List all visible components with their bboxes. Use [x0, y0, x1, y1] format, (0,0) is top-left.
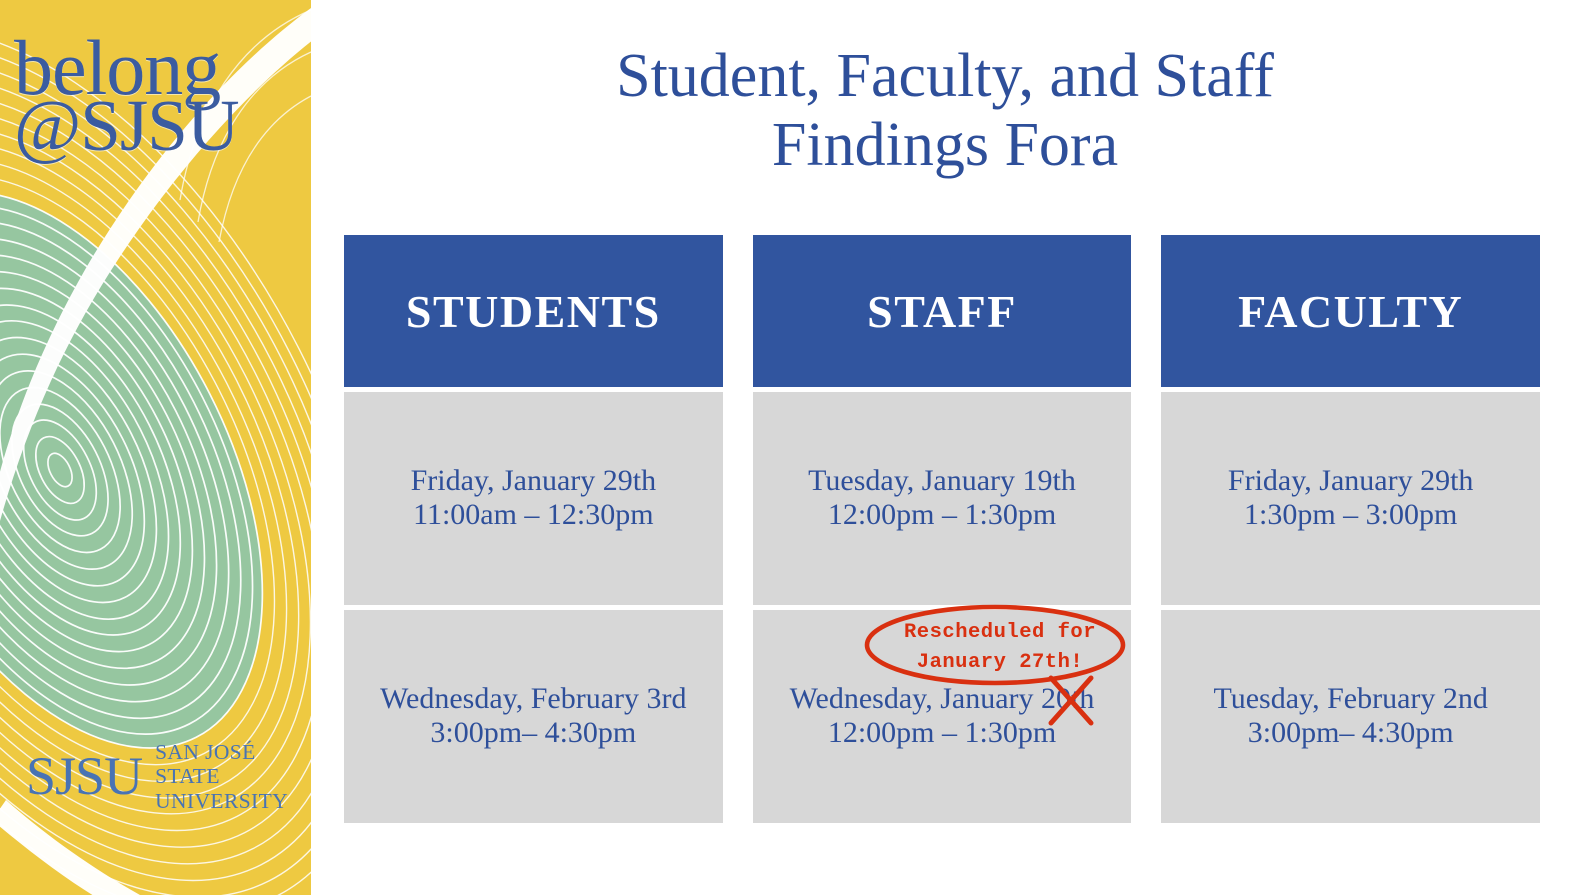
- fora-schedule-grid: STUDENTS Friday, January 29th 11:00am – …: [344, 235, 1540, 823]
- session-date: Friday, January 29th: [411, 464, 657, 497]
- column-header-staff: STAFF: [753, 235, 1132, 387]
- sjsu-logo-subtitle-line1: SAN JOSÉ STATE: [155, 740, 311, 789]
- session-time: 3:00pm– 4:30pm: [430, 715, 636, 751]
- column-header-students: STUDENTS: [344, 235, 723, 387]
- session-time: 3:00pm– 4:30pm: [1248, 715, 1454, 751]
- column-header-faculty: FACULTY: [1161, 235, 1540, 387]
- slide-title-line1: Student, Faculty, and Staff: [330, 42, 1560, 111]
- session-date: Wednesday, February 3rd: [380, 682, 686, 715]
- brand-panel: belong @SJSU SJSU SAN JOSÉ STATE UNIVERS…: [0, 0, 311, 895]
- sjsu-logo-mark: SJSU: [26, 749, 142, 803]
- session-cell: Tuesday, January 19th 12:00pm – 1:30pm: [753, 392, 1132, 605]
- session-cell: Tuesday, February 2nd 3:00pm– 4:30pm: [1161, 610, 1540, 823]
- fora-column-staff: STAFF Tuesday, January 19th 12:00pm – 1:…: [753, 235, 1132, 823]
- slide-title-line2: Findings Fora: [330, 111, 1560, 180]
- sjsu-logo-subtitle-line2: UNIVERSITY: [155, 789, 311, 814]
- session-date: Tuesday, January 19th: [808, 464, 1076, 497]
- sjsu-logo-subtitle: SAN JOSÉ STATE UNIVERSITY: [155, 740, 311, 814]
- sjsu-logo: SJSU SAN JOSÉ STATE UNIVERSITY: [26, 740, 311, 814]
- fora-column-faculty: FACULTY Friday, January 29th 1:30pm – 3:…: [1161, 235, 1540, 823]
- presentation-slide: belong @SJSU SJSU SAN JOSÉ STATE UNIVERS…: [0, 0, 1584, 895]
- session-date: Tuesday, February 2nd: [1213, 682, 1487, 715]
- session-time: 12:00pm – 1:30pm: [828, 497, 1056, 533]
- session-cell: Wednesday, February 3rd 3:00pm– 4:30pm: [344, 610, 723, 823]
- session-cell: Friday, January 29th 1:30pm – 3:00pm: [1161, 392, 1540, 605]
- session-cell: Friday, January 29th 11:00am – 12:30pm: [344, 392, 723, 605]
- slide-title: Student, Faculty, and Staff Findings For…: [330, 42, 1560, 181]
- session-time: 11:00am – 12:30pm: [413, 497, 654, 533]
- session-date: Wednesday, January 20th: [790, 682, 1095, 715]
- session-cell-rescheduled: Wednesday, January 20th 12:00pm – 1:30pm: [753, 610, 1132, 823]
- session-time: 1:30pm – 3:00pm: [1244, 497, 1457, 533]
- session-time: 12:00pm – 1:30pm: [828, 715, 1056, 751]
- session-date: Friday, January 29th: [1228, 464, 1474, 497]
- fora-column-students: STUDENTS Friday, January 29th 11:00am – …: [344, 235, 723, 823]
